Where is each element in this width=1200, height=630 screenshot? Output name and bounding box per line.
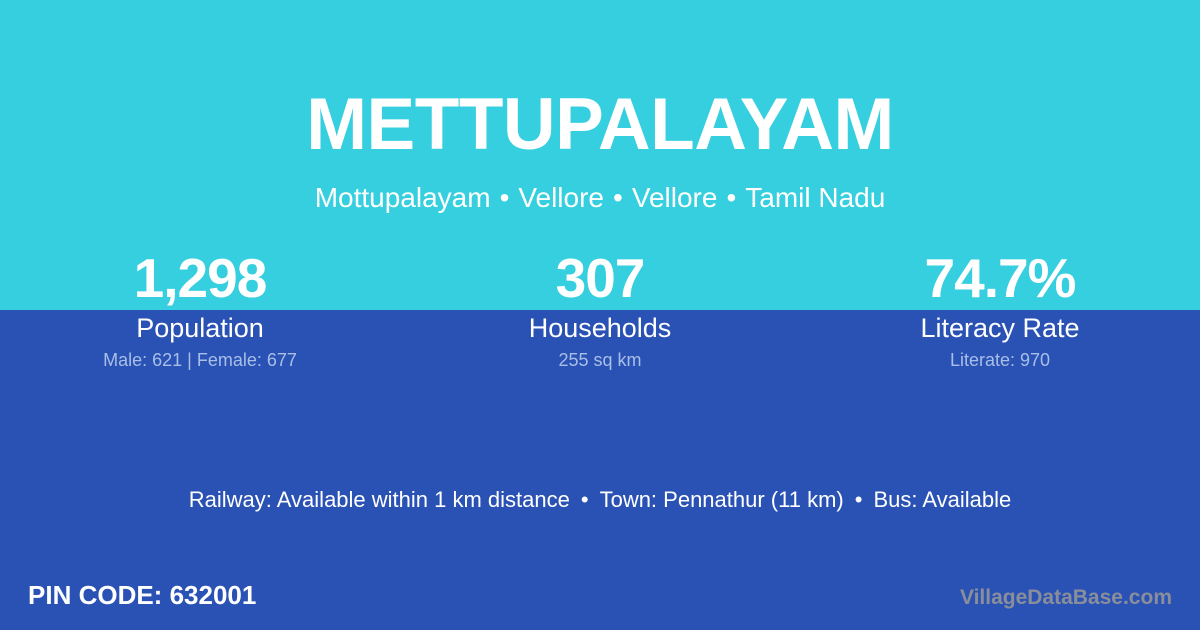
amenity-item: Railway: Available within 1 km distance: [189, 487, 570, 512]
stat-value: 74.7%: [800, 246, 1200, 310]
stats-row: 1,298 Population Male: 621 | Female: 677…: [0, 246, 1200, 371]
breadcrumb-part: Vellore: [632, 182, 718, 213]
breadcrumb: Mottupalayam•Vellore•Vellore•Tamil Nadu: [0, 183, 1200, 214]
stat-label: Population: [0, 312, 400, 344]
pin-code: PIN CODE: 632001: [28, 578, 256, 612]
amenity-item: Bus: Available: [873, 487, 1011, 512]
stat-households: 307 Households 255 sq km: [400, 246, 800, 371]
breadcrumb-part: Tamil Nadu: [745, 182, 885, 213]
stat-literacy-rate: 74.7% Literacy Rate Literate: 970: [800, 246, 1200, 371]
stat-population: 1,298 Population Male: 621 | Female: 677: [0, 246, 400, 371]
village-info-card: METTUPALAYAM Mottupalayam•Vellore•Vellor…: [0, 0, 1200, 630]
amenity-item: Town: Pennathur (11 km): [600, 487, 844, 512]
separator-dot-icon: •: [844, 486, 874, 514]
site-watermark: VillageDataBase.com: [960, 584, 1172, 612]
stat-sublabel: Male: 621 | Female: 677: [0, 349, 400, 371]
stat-value: 307: [400, 246, 800, 310]
breadcrumb-part: Mottupalayam: [315, 182, 491, 213]
breadcrumb-part: Vellore: [518, 182, 604, 213]
stat-sublabel: 255 sq km: [400, 349, 800, 371]
page-title: METTUPALAYAM: [0, 88, 1200, 161]
separator-dot-icon: •: [491, 183, 519, 214]
stat-label: Literacy Rate: [800, 312, 1200, 344]
stat-value: 1,298: [0, 246, 400, 310]
amenities-line: Railway: Available within 1 km distance•…: [0, 486, 1200, 514]
stat-sublabel: Literate: 970: [800, 349, 1200, 371]
separator-dot-icon: •: [604, 183, 632, 214]
footer: PIN CODE: 632001 VillageDataBase.com: [0, 575, 1200, 630]
stat-label: Households: [400, 312, 800, 344]
separator-dot-icon: •: [717, 183, 745, 214]
separator-dot-icon: •: [570, 486, 600, 514]
